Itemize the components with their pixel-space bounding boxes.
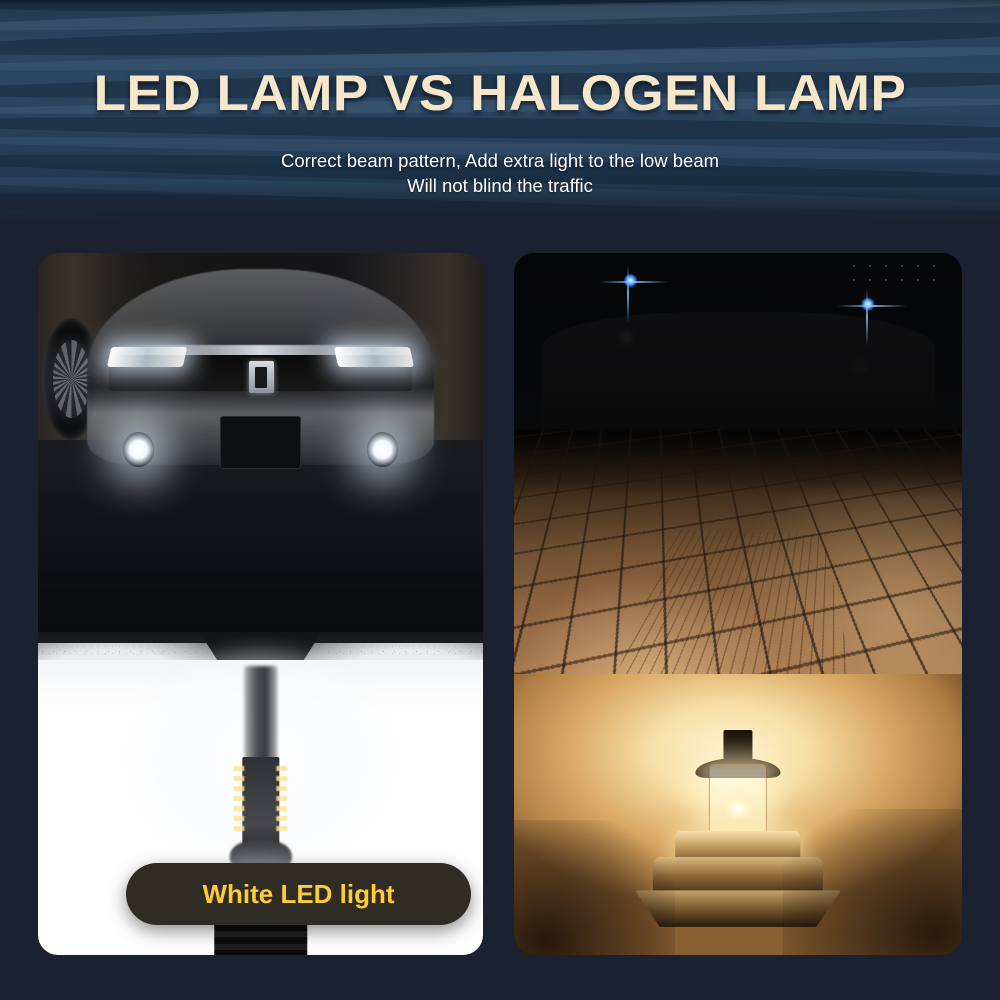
license-plate xyxy=(220,416,300,469)
subtitle-line-1: Correct beam pattern, Add extra light to… xyxy=(281,150,719,171)
car-emblem xyxy=(249,361,274,394)
blue-light-flare-left-vertical xyxy=(627,265,629,323)
page-title: LED LAMP VS HALOGEN LAMP xyxy=(0,64,1000,122)
halogen-shadow-left xyxy=(514,820,675,955)
halogen-bulb-area xyxy=(514,674,962,955)
led-chip-housing xyxy=(242,757,279,845)
halogen-night-car-photo xyxy=(514,253,962,450)
comparison-panel-led[interactable]: White LED light xyxy=(38,253,483,955)
led-headlight-left xyxy=(107,347,187,367)
blue-light-flare-left xyxy=(599,281,669,283)
subtitle-line-2: Will not blind the traffic xyxy=(0,173,1000,198)
distant-amber-lights xyxy=(846,259,945,287)
halogen-shadow-right xyxy=(783,809,962,955)
halogen-filament xyxy=(725,799,751,817)
led-headlight-right xyxy=(334,347,414,367)
led-chip-row-left xyxy=(234,766,245,835)
led-label-pill[interactable]: White LED light xyxy=(126,863,471,925)
fog-lamp-left xyxy=(123,432,154,467)
fog-lamp-right xyxy=(367,432,398,467)
comparison-panel-halogen[interactable]: yellow halogen lamp xyxy=(514,253,962,955)
page-subtitle: Correct beam pattern, Add extra light to… xyxy=(0,148,1000,198)
halogen-lit-pavement-area xyxy=(514,429,962,696)
blue-light-flare-right xyxy=(837,305,907,307)
poster-root: LED LAMP VS HALOGEN LAMP Correct beam pa… xyxy=(0,0,1000,1000)
halogen-glass-envelope xyxy=(709,764,767,837)
led-chip-row-right xyxy=(276,766,287,835)
blue-light-flare-right-vertical xyxy=(866,288,868,346)
led-night-car-photo xyxy=(38,253,483,660)
